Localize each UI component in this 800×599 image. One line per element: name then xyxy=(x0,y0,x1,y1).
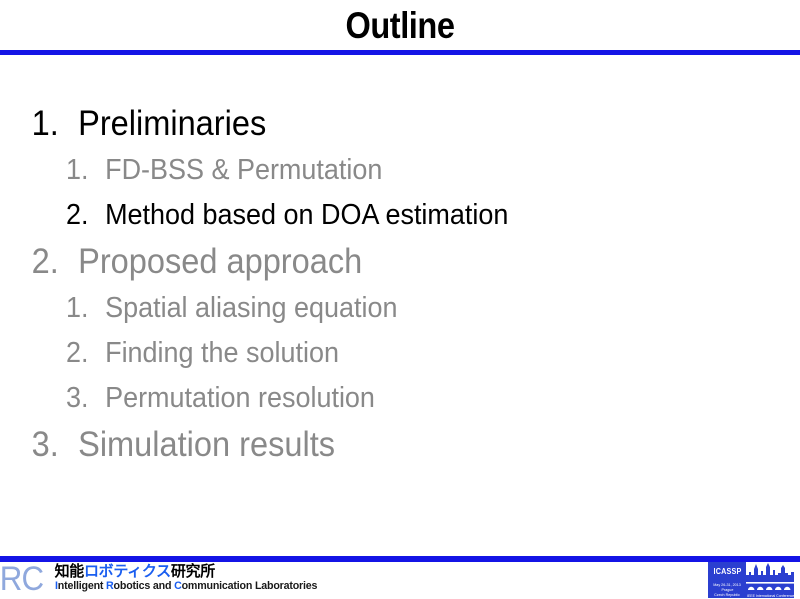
irc-en-obotics: obotics and xyxy=(113,580,174,592)
slide-footer: IRC 知能ロボティクス研究所 Intelligent Robotics and… xyxy=(0,562,800,599)
page-title: Outline xyxy=(48,4,752,48)
outline-item-number: 3. xyxy=(66,376,105,421)
outline-item-label: Method based on DOA estimation xyxy=(105,193,508,238)
outline-item-label: FD-BSS & Permutation xyxy=(105,148,382,193)
outline-item-finding-the-solution[interactable]: 2. Finding the solution xyxy=(0,331,744,376)
irc-en-r: R xyxy=(106,580,114,592)
outline-item-simulation-results[interactable]: 3. Simulation results xyxy=(0,421,744,469)
outline-item-label: Simulation results xyxy=(78,421,335,469)
outline-item-label: Finding the solution xyxy=(105,331,339,376)
irc-logo-text: 知能ロボティクス研究所 Intelligent Robotics and Com… xyxy=(55,563,325,593)
slide-canvas: Outline 1. Preliminaries 1. FD-BSS & Per… xyxy=(0,0,800,599)
icassp-name: ICASSP xyxy=(713,567,741,576)
outline-item-number: 1. xyxy=(32,100,79,148)
outline-item-label: Proposed approach xyxy=(78,238,362,286)
outline-item-label: Permutation resolution xyxy=(105,376,375,421)
outline-item-number: 2. xyxy=(66,331,105,376)
irc-jp-part3: 研究所 xyxy=(171,562,215,580)
icassp-skyline-cell xyxy=(746,562,794,581)
irc-english-name: Intelligent Robotics and Communication L… xyxy=(55,580,317,593)
outline-item-preliminaries[interactable]: 1. Preliminaries xyxy=(0,100,744,148)
outline-item-spatial-aliasing-equation[interactable]: 1. Spatial aliasing equation xyxy=(0,286,744,331)
outline-item-number: 2. xyxy=(66,193,105,238)
outline-list: 1. Preliminaries 1. FD-BSS & Permutation… xyxy=(0,100,800,469)
icassp-caption-cell: IEEE International Conference on Acousti… xyxy=(746,581,794,598)
irc-logo: IRC 知能ロボティクス研究所 Intelligent Robotics and… xyxy=(0,562,325,596)
outline-item-number: 2. xyxy=(32,238,79,286)
outline-item-label: Preliminaries xyxy=(78,100,266,148)
outline-item-proposed-approach[interactable]: 2. Proposed approach xyxy=(0,238,744,286)
irc-en-ntelligent: ntelligent xyxy=(57,580,105,592)
icassp-caption: IEEE International Conference on Acousti… xyxy=(747,594,794,599)
irc-jp-part2: ロボティクス xyxy=(84,562,171,580)
outline-item-number: 3. xyxy=(32,421,79,469)
outline-item-permutation-resolution[interactable]: 3. Permutation resolution xyxy=(0,376,744,421)
title-divider xyxy=(0,50,800,55)
outline-item-number: 1. xyxy=(66,148,105,193)
irc-japanese-name: 知能ロボティクス研究所 xyxy=(55,563,325,580)
outline-item-number: 1. xyxy=(66,286,105,331)
irc-wordmark: IRC xyxy=(0,562,43,596)
outline-item-method-doa-estimation[interactable]: 2. Method based on DOA estimation xyxy=(0,193,744,238)
icassp-country: Czech Republic xyxy=(714,592,740,597)
irc-en-ommunication: ommunication Laboratories xyxy=(181,580,317,592)
icassp-details-cell: May 26-31, 2013 Prague Czech Republic xyxy=(708,581,746,598)
outline-item-fd-bss-permutation[interactable]: 1. FD-BSS & Permutation xyxy=(0,148,744,193)
outline-item-label: Spatial aliasing equation xyxy=(105,286,397,331)
prague-skyline-icon xyxy=(746,562,794,581)
irc-jp-part1: 知能 xyxy=(55,562,84,580)
icassp-logo: ICASSP May 26-31, 2013 Prague Czech Repu… xyxy=(708,562,794,598)
icassp-name-cell: ICASSP xyxy=(708,562,746,581)
irc-en-c: C xyxy=(174,580,182,592)
